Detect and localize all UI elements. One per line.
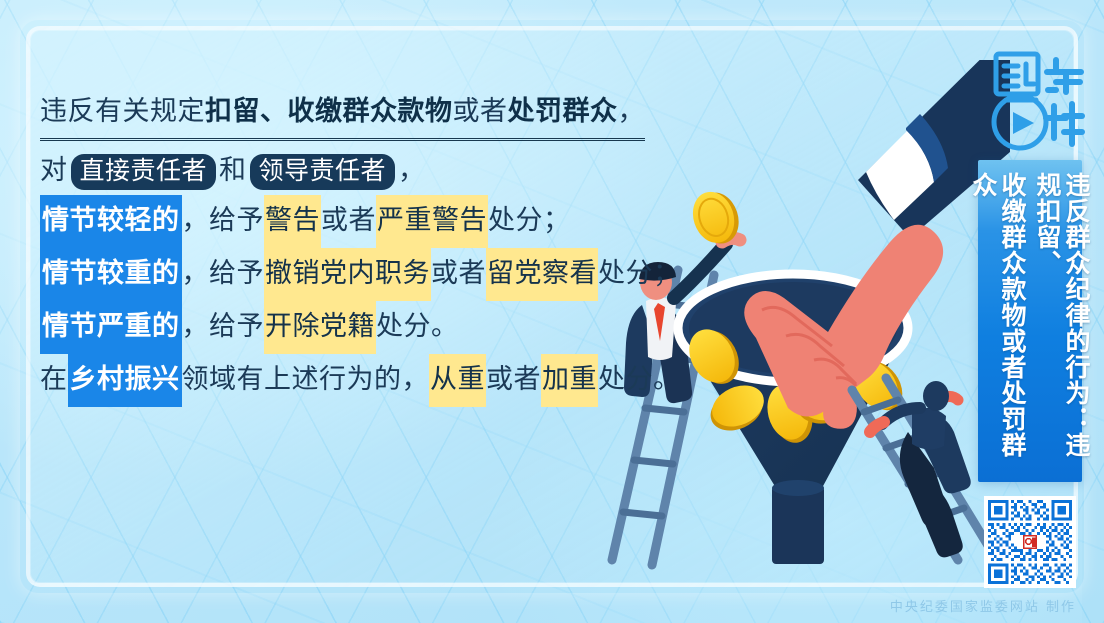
- badge-direct-responsible: 直接责任者: [71, 154, 217, 190]
- line6-a: 领域有上述行为的，: [182, 356, 430, 404]
- line1-bold-a: 扣留、收缴群众款物: [205, 96, 453, 127]
- badge-leadership-responsible: 领导责任者: [250, 154, 396, 190]
- line6-blue-highlight: 乡村振兴: [68, 354, 182, 407]
- footer-credit: 中央纪委国家监委网站 制作: [890, 596, 1076, 615]
- line3-blue-highlight: 情节较轻的: [40, 195, 182, 248]
- text-line-1: 违反有关规定扣留、收缴群众款物或者处罚群众，: [40, 88, 645, 141]
- line4-blue-highlight: 情节较重的: [40, 248, 182, 301]
- line6-c: 处分。: [598, 356, 681, 404]
- line3-b: 或者: [321, 197, 376, 245]
- line5-yellow-a: 开除党籍: [264, 301, 376, 354]
- line1-tail: ，: [618, 96, 646, 127]
- text-line-4: 情节较重的，给予撤销党内职务或者留党察看处分；: [40, 248, 680, 301]
- line5-c: 处分。: [376, 303, 459, 351]
- line5-blue-highlight: 情节严重的: [40, 301, 182, 354]
- line2-lead: 对: [40, 147, 68, 195]
- banner-column-right: 违反群众纪律的行为：违规扣留、: [1033, 172, 1091, 482]
- line5-a: ，给予: [182, 303, 265, 351]
- brand-logo-jifabaike: [984, 44, 1094, 162]
- line6-yellow-a: 从重: [429, 354, 486, 407]
- line4-a: ，给予: [182, 250, 265, 298]
- banner-column-left: 收缴群众款物或者处罚群众: [969, 172, 1027, 482]
- line6-b: 或者: [486, 356, 541, 404]
- text-line-5: 情节严重的，给予开除党籍处分。: [40, 301, 680, 354]
- line1-bold-b: 处罚群众: [508, 96, 618, 127]
- line4-b: 或者: [431, 250, 486, 298]
- line3-a: ，给予: [182, 197, 265, 245]
- line4-c: 处分；: [598, 250, 681, 298]
- line6-lead: 在: [40, 356, 68, 404]
- text-line-6: 在乡村振兴领域有上述行为的，从重或者加重处分。: [40, 354, 680, 407]
- line1-plain-b: 或者: [453, 96, 508, 127]
- line1-plain-a: 违反有关规定: [40, 96, 205, 127]
- line3-yellow-b: 严重警告: [376, 195, 488, 248]
- line3-yellow-a: 警告: [264, 195, 321, 248]
- line2-mid: 和: [219, 147, 247, 195]
- poster-canvas: 违反有关规定扣留、收缴群众款物或者处罚群众， 对直接责任者和领导责任者， 情节较…: [0, 0, 1104, 623]
- line4-yellow-a: 撤销党内职务: [264, 248, 431, 301]
- line4-yellow-b: 留党察看: [486, 248, 598, 301]
- line6-yellow-b: 加重: [541, 354, 598, 407]
- main-text-block: 违反有关规定扣留、收缴群众款物或者处罚群众， 对直接责任者和领导责任者， 情节较…: [40, 88, 680, 407]
- line3-c: 处分；: [488, 197, 571, 245]
- text-line-2: 对直接责任者和领导责任者，: [40, 147, 680, 195]
- vertical-banner: 违反群众纪律的行为：违规扣留、 收缴群众款物或者处罚群众: [978, 160, 1082, 482]
- text-line-3: 情节较轻的，给予警告或者严重警告处分；: [40, 195, 680, 248]
- line2-tail: ，: [398, 147, 426, 195]
- wechat-qr-code[interactable]: [984, 496, 1076, 588]
